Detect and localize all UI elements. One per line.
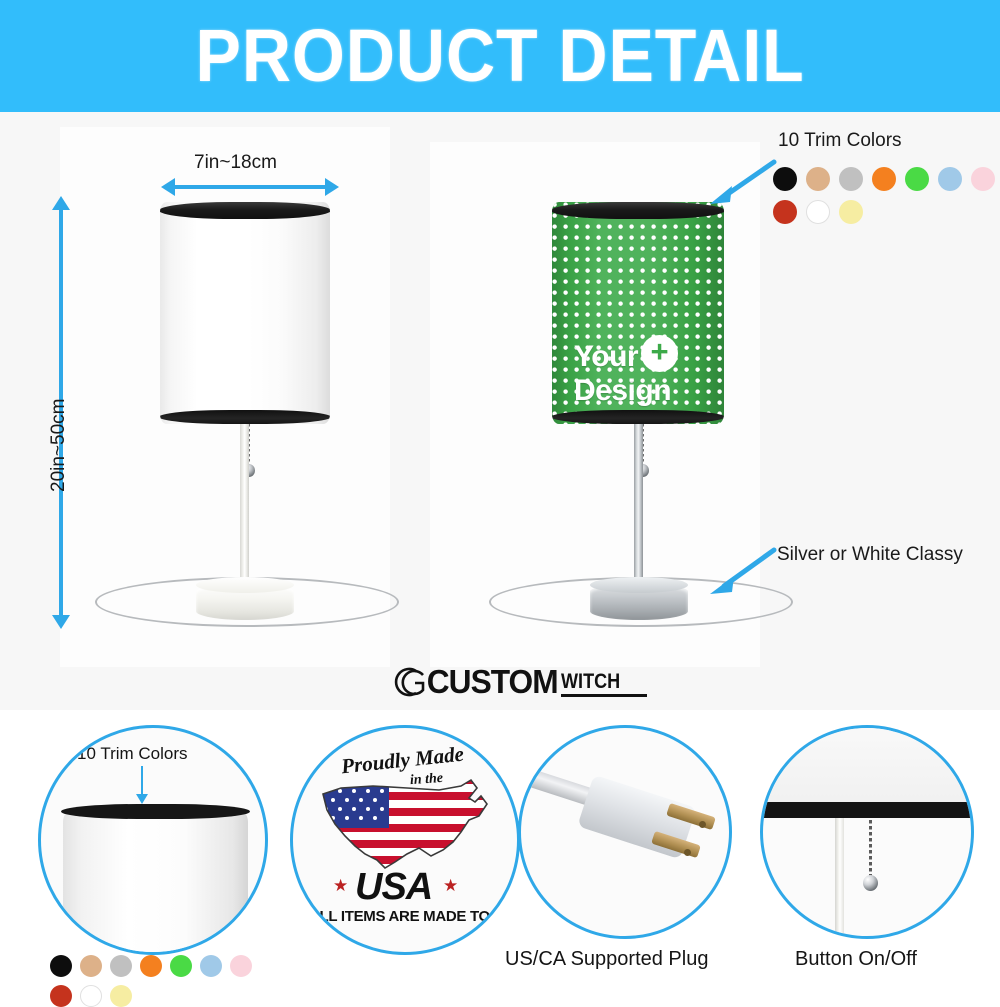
add-design-badge[interactable]: + xyxy=(641,335,678,372)
panel-power-plug xyxy=(518,725,732,939)
width-arrowhead-right xyxy=(325,178,339,196)
usa-badge-sub: ALL ITEMS ARE MADE TO ORDER! xyxy=(309,908,520,925)
logo-underline xyxy=(561,694,647,697)
trim-swatch-pink[interactable] xyxy=(971,167,995,191)
panel-lamp-post xyxy=(835,818,844,939)
trim-colors-callout-label: 10 Trim Colors xyxy=(778,130,902,152)
height-dimension-label: 20in~50cm xyxy=(48,399,70,492)
trim-swatch-green[interactable] xyxy=(170,955,192,977)
logo-secondary-text: WITCH xyxy=(561,671,635,692)
base-finish-callout-arrow xyxy=(694,542,780,605)
panel-plug-caption: US/CA Supported Plug xyxy=(505,948,708,971)
trim-swatch-light-blue[interactable] xyxy=(200,955,222,977)
usa-star-right: ★ xyxy=(443,876,458,896)
trim-swatch-yellow[interactable] xyxy=(839,200,863,224)
product-detail-page: PRODUCT DETAIL 7in~18cm 20in~50cm xyxy=(0,0,1000,1000)
panel-shade-trim xyxy=(760,802,974,818)
shade-surface xyxy=(160,202,330,424)
lamp-base-top xyxy=(590,577,688,593)
width-dimension-label: 7in~18cm xyxy=(194,152,277,174)
trim-swatch-light-blue[interactable] xyxy=(938,167,962,191)
logo-c-mark-icon xyxy=(393,665,427,699)
arrow-icon xyxy=(700,158,778,206)
panel-shade-graphic xyxy=(760,725,974,808)
panel-trim-arrow-line xyxy=(141,766,143,796)
trim-swatch-red[interactable] xyxy=(50,985,72,1007)
page-title: PRODUCT DETAIL xyxy=(195,19,804,93)
bottom-trim-swatch-row xyxy=(50,955,272,1007)
trim-colors-swatch-row xyxy=(773,167,1000,224)
lamp-white xyxy=(160,202,330,622)
logo-primary-text: CUSTOM xyxy=(427,665,558,699)
lamp-shade-white xyxy=(160,202,330,424)
double-c-icon xyxy=(393,665,427,699)
lamp-base-top xyxy=(196,577,294,593)
panel-pull-chain-ball[interactable] xyxy=(863,875,878,891)
panel-trim-arrowhead xyxy=(136,794,148,804)
arrow-icon xyxy=(694,542,780,600)
design-text-line2: Design xyxy=(574,374,671,407)
height-arrowhead-bottom xyxy=(52,615,70,629)
trim-swatch-yellow[interactable] xyxy=(110,985,132,1007)
panel-switch-caption: Button On/Off xyxy=(795,948,917,971)
panel-trim-colors-label: 10 Trim Colors xyxy=(77,744,188,764)
shade-trim-bottom xyxy=(160,410,330,424)
brand-logo: CUSTOM WITCH xyxy=(393,665,647,699)
trim-colors-callout-arrow xyxy=(700,158,778,211)
usa-star-left: ★ xyxy=(333,876,348,896)
header-banner: PRODUCT DETAIL xyxy=(0,0,1000,112)
shade-trim-bottom xyxy=(552,410,724,424)
trim-swatch-gray[interactable] xyxy=(839,167,863,191)
width-arrowhead-left xyxy=(161,178,175,196)
usa-map-icon xyxy=(311,776,501,876)
trim-swatch-tan[interactable] xyxy=(80,955,102,977)
plus-icon: + xyxy=(650,336,668,367)
panel-pull-chain xyxy=(760,725,974,939)
trim-swatch-white[interactable] xyxy=(80,985,102,1007)
shade-trim-top xyxy=(552,202,724,219)
trim-swatch-orange[interactable] xyxy=(872,167,896,191)
usa-badge-line1: Proudly Made xyxy=(340,742,465,780)
trim-swatch-black[interactable] xyxy=(50,955,72,977)
plug-blade-hole-bottom xyxy=(684,849,691,856)
trim-swatch-white[interactable] xyxy=(806,200,830,224)
trim-swatch-orange[interactable] xyxy=(140,955,162,977)
panel-shade-graphic xyxy=(63,810,248,955)
trim-swatch-pink[interactable] xyxy=(230,955,252,977)
panel-shade-trim xyxy=(61,804,250,819)
panel-made-in-usa: Proudly Made in the xyxy=(290,725,520,955)
panel-trim-colors: 10 Trim Colors xyxy=(38,725,268,955)
plug-blade-hole-top xyxy=(699,821,706,828)
width-dimension-arrow xyxy=(175,185,325,189)
logo-secondary-block: WITCH xyxy=(561,671,647,699)
usa-badge-big: USA xyxy=(355,866,432,909)
trim-swatch-gray[interactable] xyxy=(110,955,132,977)
shade-trim-top xyxy=(160,202,330,219)
main-showcase: 7in~18cm 20in~50cm xyxy=(0,112,1000,710)
base-finish-callout-label: Silver or White Classy xyxy=(777,544,963,566)
trim-swatch-green[interactable] xyxy=(905,167,929,191)
usa-badge: Proudly Made in the xyxy=(293,728,517,952)
feature-panels: 10 Trim Colors Proudly Made in the xyxy=(0,710,1000,1000)
panel-pull-chain[interactable] xyxy=(869,820,872,878)
trim-swatch-tan[interactable] xyxy=(806,167,830,191)
height-arrowhead-top xyxy=(52,196,70,210)
design-text-line1: Your xyxy=(574,340,638,373)
